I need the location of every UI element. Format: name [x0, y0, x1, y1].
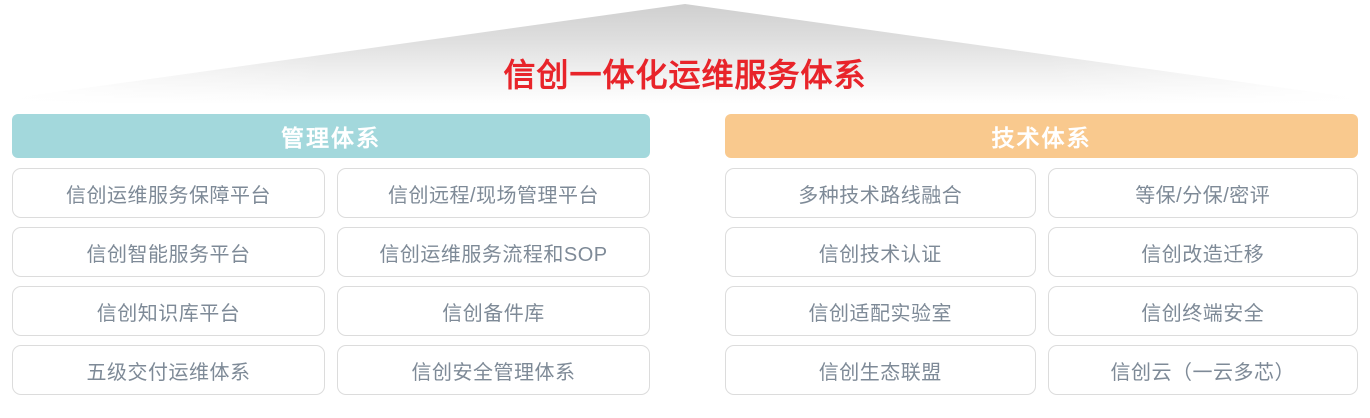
list-item[interactable]: 信创备件库: [337, 286, 650, 336]
list-item[interactable]: 信创远程/现场管理平台: [337, 168, 650, 218]
section-management: 管理体系 信创运维服务保障平台 信创远程/现场管理平台 信创智能服务平台 信创运…: [12, 114, 650, 395]
list-item[interactable]: 信创云（一云多芯）: [1048, 345, 1359, 395]
list-item[interactable]: 等保/分保/密评: [1048, 168, 1359, 218]
list-item[interactable]: 信创运维服务保障平台: [12, 168, 325, 218]
list-item[interactable]: 信创安全管理体系: [337, 345, 650, 395]
list-item[interactable]: 信创适配实验室: [725, 286, 1036, 336]
management-grid: 信创运维服务保障平台 信创远程/现场管理平台 信创智能服务平台 信创运维服务流程…: [12, 168, 650, 395]
technology-grid: 多种技术路线融合 等保/分保/密评 信创技术认证 信创改造迁移 信创适配实验室 …: [725, 168, 1358, 395]
section-technology: 技术体系 多种技术路线融合 等保/分保/密评 信创技术认证 信创改造迁移 信创适…: [725, 114, 1358, 395]
section-header-technology: 技术体系: [725, 114, 1358, 158]
section-header-management: 管理体系: [12, 114, 650, 158]
list-item[interactable]: 信创生态联盟: [725, 345, 1036, 395]
list-item[interactable]: 五级交付运维体系: [12, 345, 325, 395]
diagram-canvas: 信创一体化运维服务体系 管理体系 信创运维服务保障平台 信创远程/现场管理平台 …: [0, 0, 1370, 418]
page-title: 信创一体化运维服务体系: [0, 55, 1370, 95]
list-item[interactable]: 信创技术认证: [725, 227, 1036, 277]
list-item[interactable]: 多种技术路线融合: [725, 168, 1036, 218]
list-item[interactable]: 信创运维服务流程和SOP: [337, 227, 650, 277]
list-item[interactable]: 信创改造迁移: [1048, 227, 1359, 277]
list-item[interactable]: 信创智能服务平台: [12, 227, 325, 277]
list-item[interactable]: 信创知识库平台: [12, 286, 325, 336]
list-item[interactable]: 信创终端安全: [1048, 286, 1359, 336]
